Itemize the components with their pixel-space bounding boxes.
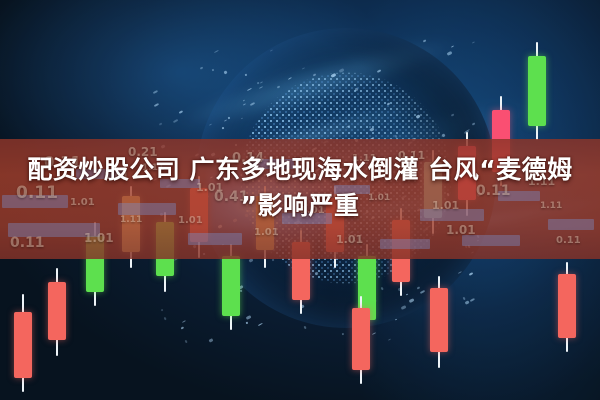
- floating-number: 1.01: [84, 231, 114, 245]
- floating-number: 0.11: [10, 235, 45, 251]
- candlestick: [352, 296, 370, 384]
- floating-number: 0.11: [556, 235, 581, 246]
- candlestick-body: [48, 282, 66, 340]
- floating-number: 1.01: [446, 223, 476, 237]
- candlestick-body: [352, 308, 370, 370]
- candlestick: [48, 268, 66, 356]
- candlestick-body: [430, 288, 448, 352]
- band-bar: [188, 233, 242, 245]
- floating-number: 1.01: [336, 233, 363, 246]
- page-title: 配资炒股公司 广东多地现海水倒灌 台风“麦德姆 ”影响严重: [0, 152, 600, 224]
- headline-line-2: ”影响严重: [8, 188, 592, 224]
- news-banner-image: 0.111.010.111.011.111.010.211.011.010.11…: [0, 0, 600, 400]
- candlestick-body: [528, 56, 546, 126]
- floating-number: 1.01: [254, 227, 279, 238]
- candlestick: [430, 276, 448, 368]
- candlestick-body: [14, 312, 32, 378]
- candlestick-body: [558, 274, 576, 338]
- candlestick: [528, 42, 546, 140]
- band-bar: [380, 239, 430, 249]
- candlestick-body: [222, 256, 240, 316]
- candlestick: [558, 262, 576, 352]
- candlestick: [14, 294, 32, 392]
- headline-line-1: 配资炒股公司 广东多地现海水倒灌 台风“麦德姆: [27, 155, 572, 184]
